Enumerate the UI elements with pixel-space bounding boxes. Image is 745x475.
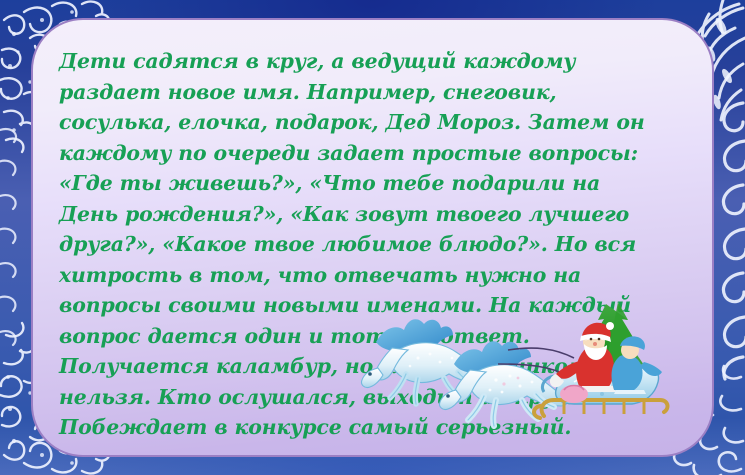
content-panel: Дети садятся в круг, а ведущий каждому р… bbox=[31, 18, 714, 457]
slide-canvas: Дети садятся в круг, а ведущий каждому р… bbox=[0, 0, 745, 475]
slide-body-text: Дети садятся в круг, а ведущий каждому р… bbox=[59, 46, 659, 443]
